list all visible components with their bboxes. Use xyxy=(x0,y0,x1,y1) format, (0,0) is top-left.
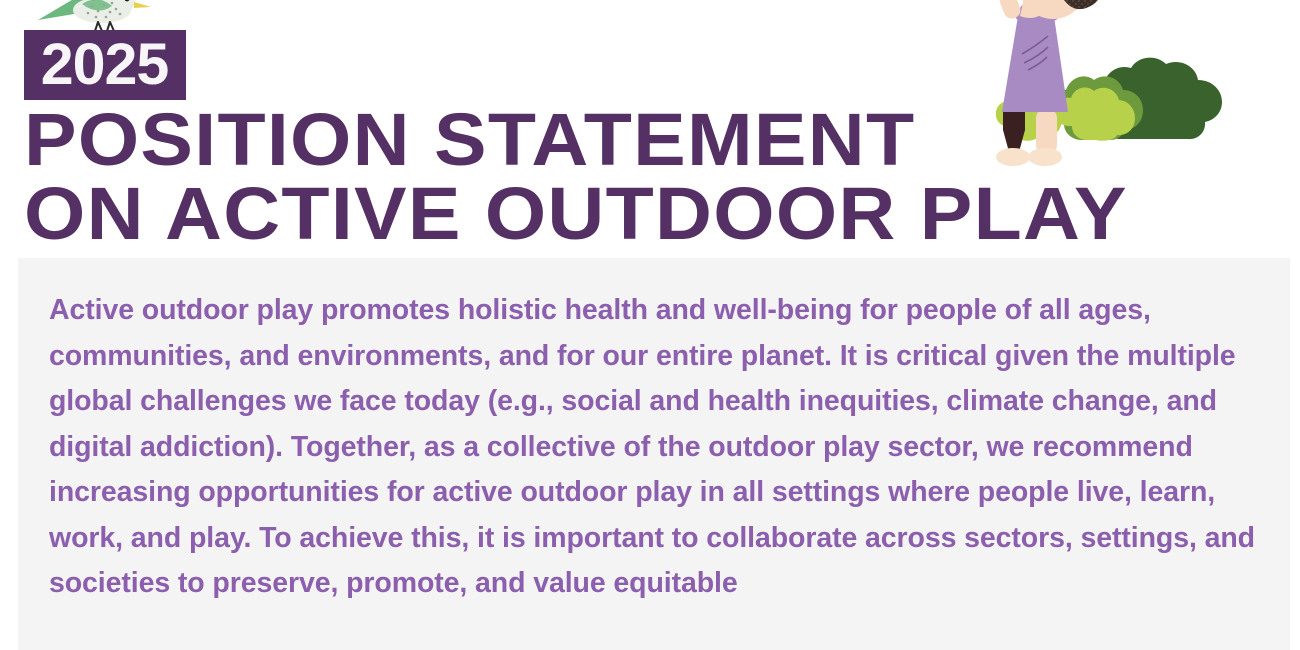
poster-page: 2025 POSITION STATEMENT ON ACTIVE OUTDOO… xyxy=(0,0,1300,650)
year-badge-text: 2025 xyxy=(41,36,169,94)
green-bird-icon xyxy=(36,0,156,32)
statement-panel: Active outdoor play promotes holistic he… xyxy=(18,258,1290,650)
page-title-line-1: POSITION STATEMENT xyxy=(24,103,1300,177)
page-title-line-2: ON ACTIVE OUTDOOR PLAY xyxy=(24,177,1300,251)
year-badge: 2025 xyxy=(24,30,186,100)
page-title: POSITION STATEMENT ON ACTIVE OUTDOOR PLA… xyxy=(24,103,1274,251)
statement-paragraph: Active outdoor play promotes holistic he… xyxy=(49,288,1264,607)
